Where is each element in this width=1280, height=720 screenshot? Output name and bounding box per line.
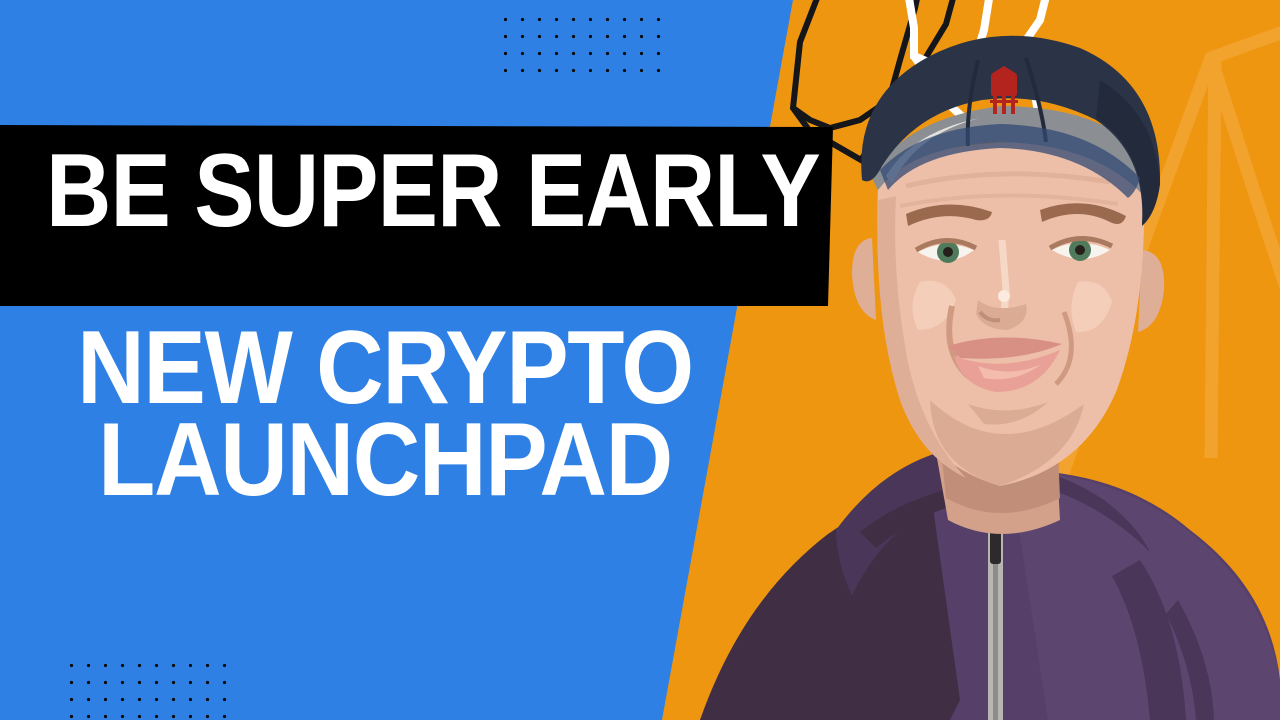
pupil-left bbox=[943, 247, 953, 257]
cap-logo-water-tower bbox=[990, 66, 1018, 114]
headline-text: BE SUPER EARLY bbox=[46, 139, 707, 269]
nose-bridge bbox=[1002, 240, 1006, 316]
subheadline-line-1: NEW CRYPTO bbox=[39, 322, 732, 414]
subheadline-line-2: LAUNCHPAD bbox=[39, 414, 732, 506]
hoodie-shadow-left bbox=[700, 486, 960, 720]
thumbnail-canvas: BE SUPER EARLY NEW CRYPTO LAUNCHPAD bbox=[0, 0, 1280, 720]
subheadline: NEW CRYPTO LAUNCHPAD bbox=[0, 322, 770, 506]
ear-left bbox=[852, 238, 876, 320]
nose-tip-highlight bbox=[998, 290, 1010, 302]
pupil-right bbox=[1075, 245, 1085, 255]
